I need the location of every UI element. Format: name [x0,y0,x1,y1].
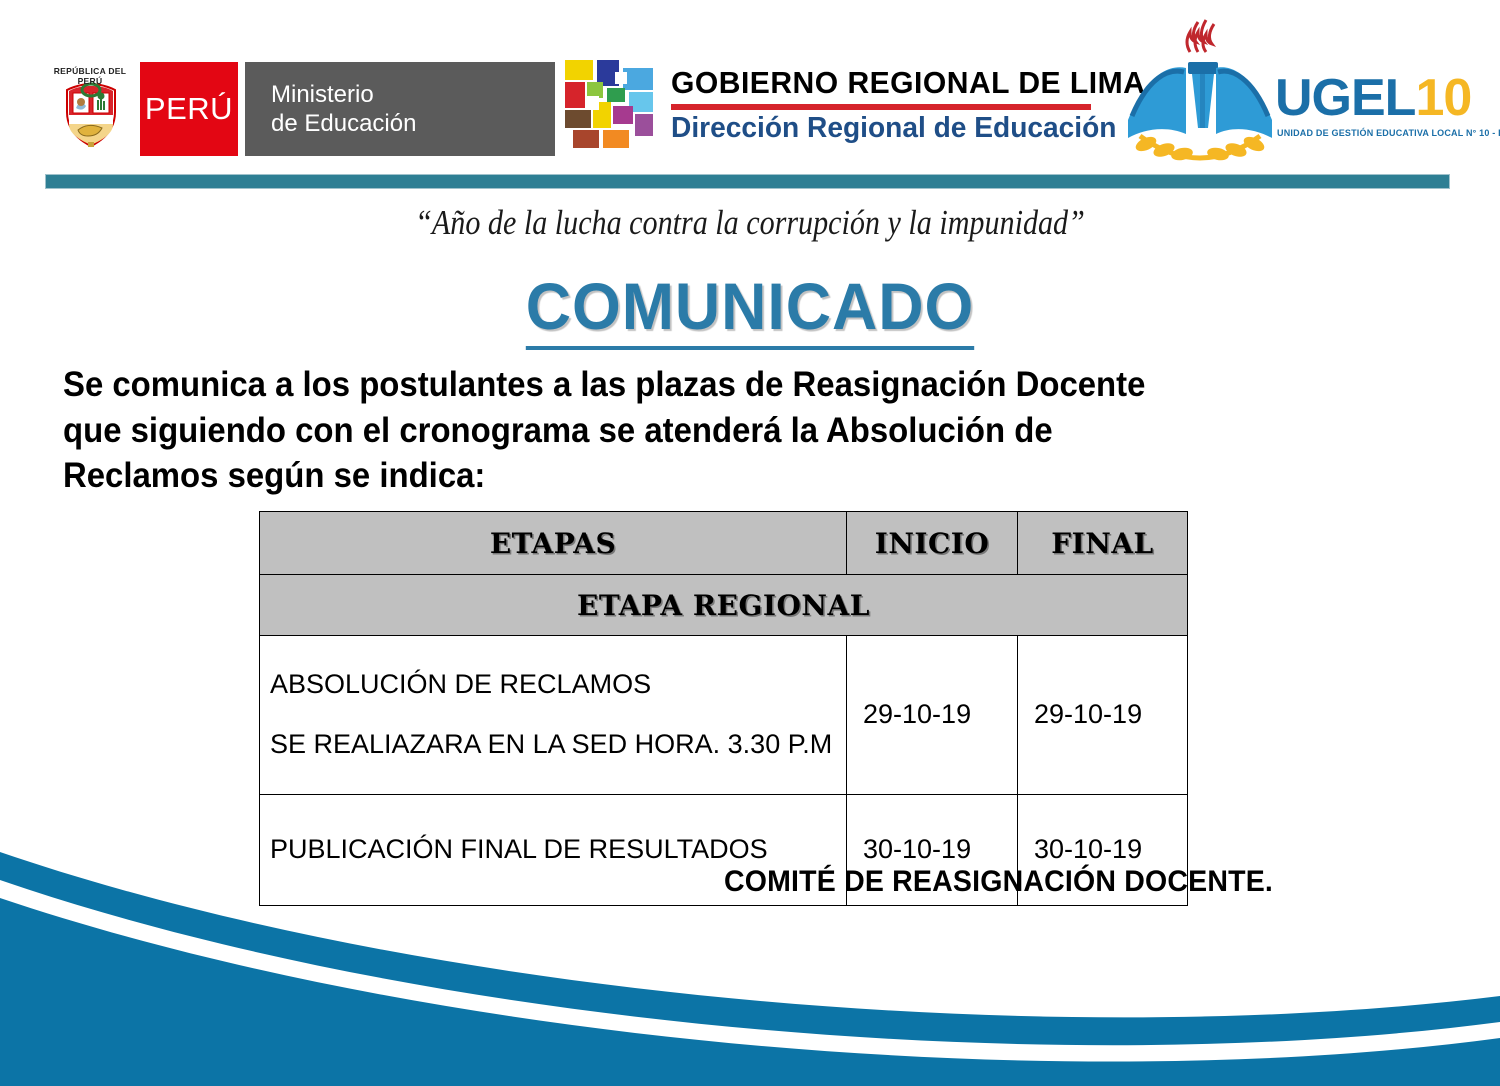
ugel-subtitle: UNIDAD DE GESTIÓN EDUCATIVA LOCAL N° 10 … [1277,128,1500,138]
grl-red-rule [671,104,1091,110]
schedule-table: ETAPAS INICIO FINAL ETAPA REGIONAL ABSOL… [259,511,1188,906]
ugel-logo: UGEL10 UNIDAD DE GESTIÓN EDUCATIVA LOCAL… [1120,16,1470,166]
ugel-word-main: UGEL [1275,69,1415,127]
ministry-line-1: Ministerio [271,80,555,109]
coat-of-arms-arc-text: REPÚBLICA DEL PERÚ [46,66,134,92]
inicio-cell: 29-10-19 [847,636,1018,795]
body-line-1: Se comunica a los postulantes a las plaz… [63,362,1323,408]
peru-coat-of-arms: REPÚBLICA DEL PERÚ [40,62,140,156]
stage-cell: ABSOLUCIÓN DE RECLAMOS SE REALIAZARA EN … [260,636,847,795]
table-header-row: ETAPAS INICIO FINAL [260,512,1188,575]
page-title: COMUNICADO [0,268,1500,350]
body-line-2: que siguiendo con el cronograma se atend… [63,408,1323,454]
section-title-etapa-regional: ETAPA REGIONAL [260,575,1188,636]
grl-title: GOBIERNO REGIONAL DE LIMA [671,65,1145,101]
body-line-3: Reclamos según se indica: [63,453,1323,499]
ugel-wordmark: UGEL10 [1275,72,1471,124]
schedule-table-body: ETAPA REGIONAL ABSOLUCIÓN DE RECLAMOS SE… [260,575,1188,906]
final-cell: 29-10-19 [1018,636,1188,795]
table-section-row: ETAPA REGIONAL [260,575,1188,636]
document-header: REPÚBLICA DEL PERÚ PERÚ Ministerio de Ed… [0,0,1500,170]
stage-line-1: ABSOLUCIÓN DE RECLAMOS [270,668,846,702]
ugel-word-number: 10 [1415,69,1471,127]
body-line-1-text: Se comunica a los postulantes a las plaz… [63,362,1145,408]
schedule-table-head: ETAPAS INICIO FINAL [260,512,1188,575]
header-divider-bar [45,174,1450,189]
stage-line-2: SE REALIAZARA EN LA SED HORA. 3.30 P.M [270,728,846,762]
footer-wave-gap [0,880,1500,1086]
announcement-body: Se comunica a los postulantes a las plaz… [63,362,1323,499]
column-header-inicio: INICIO [847,512,1018,575]
column-header-etapas: ETAPAS [260,512,847,575]
table-row: ABSOLUCIÓN DE RECLAMOS SE REALIAZARA EN … [260,636,1188,795]
grl-text-block: GOBIERNO REGIONAL DE LIMA Dirección Regi… [671,65,1160,145]
ministry-line-2: de Educación [271,109,555,138]
ministry-block: Ministerio de Educación [245,62,555,156]
column-header-final: FINAL [1018,512,1188,575]
logo-separator [238,62,245,156]
gobierno-regional-logo: GOBIERNO REGIONAL DE LIMA Dirección Regi… [563,58,1160,152]
grl-mosaic-svg [563,58,657,152]
ugel-book-torch-icon [1120,16,1280,166]
signature-line: COMITÉ DE REASIGNACIÓN DOCENTE. [724,865,1273,899]
grl-subtitle: Dirección Regional de Educación [671,112,1145,145]
stage-line-1: PUBLICACIÓN FINAL DE RESULTADOS [270,833,846,867]
minedu-logo: REPÚBLICA DEL PERÚ PERÚ Ministerio de Ed… [40,62,555,156]
grl-mosaic-icon [563,58,657,152]
year-motto: “Año de la lucha contra la corrupción y … [105,203,1395,243]
footer-wave-main [0,898,1500,1086]
body-line-2-text: que siguiendo con el cronograma se atend… [63,408,1053,454]
peru-label: PERÚ [140,62,238,156]
page-title-text: COMUNICADO [526,268,974,350]
comunicado-document: REPÚBLICA DEL PERÚ PERÚ Ministerio de Ed… [0,0,1500,1086]
